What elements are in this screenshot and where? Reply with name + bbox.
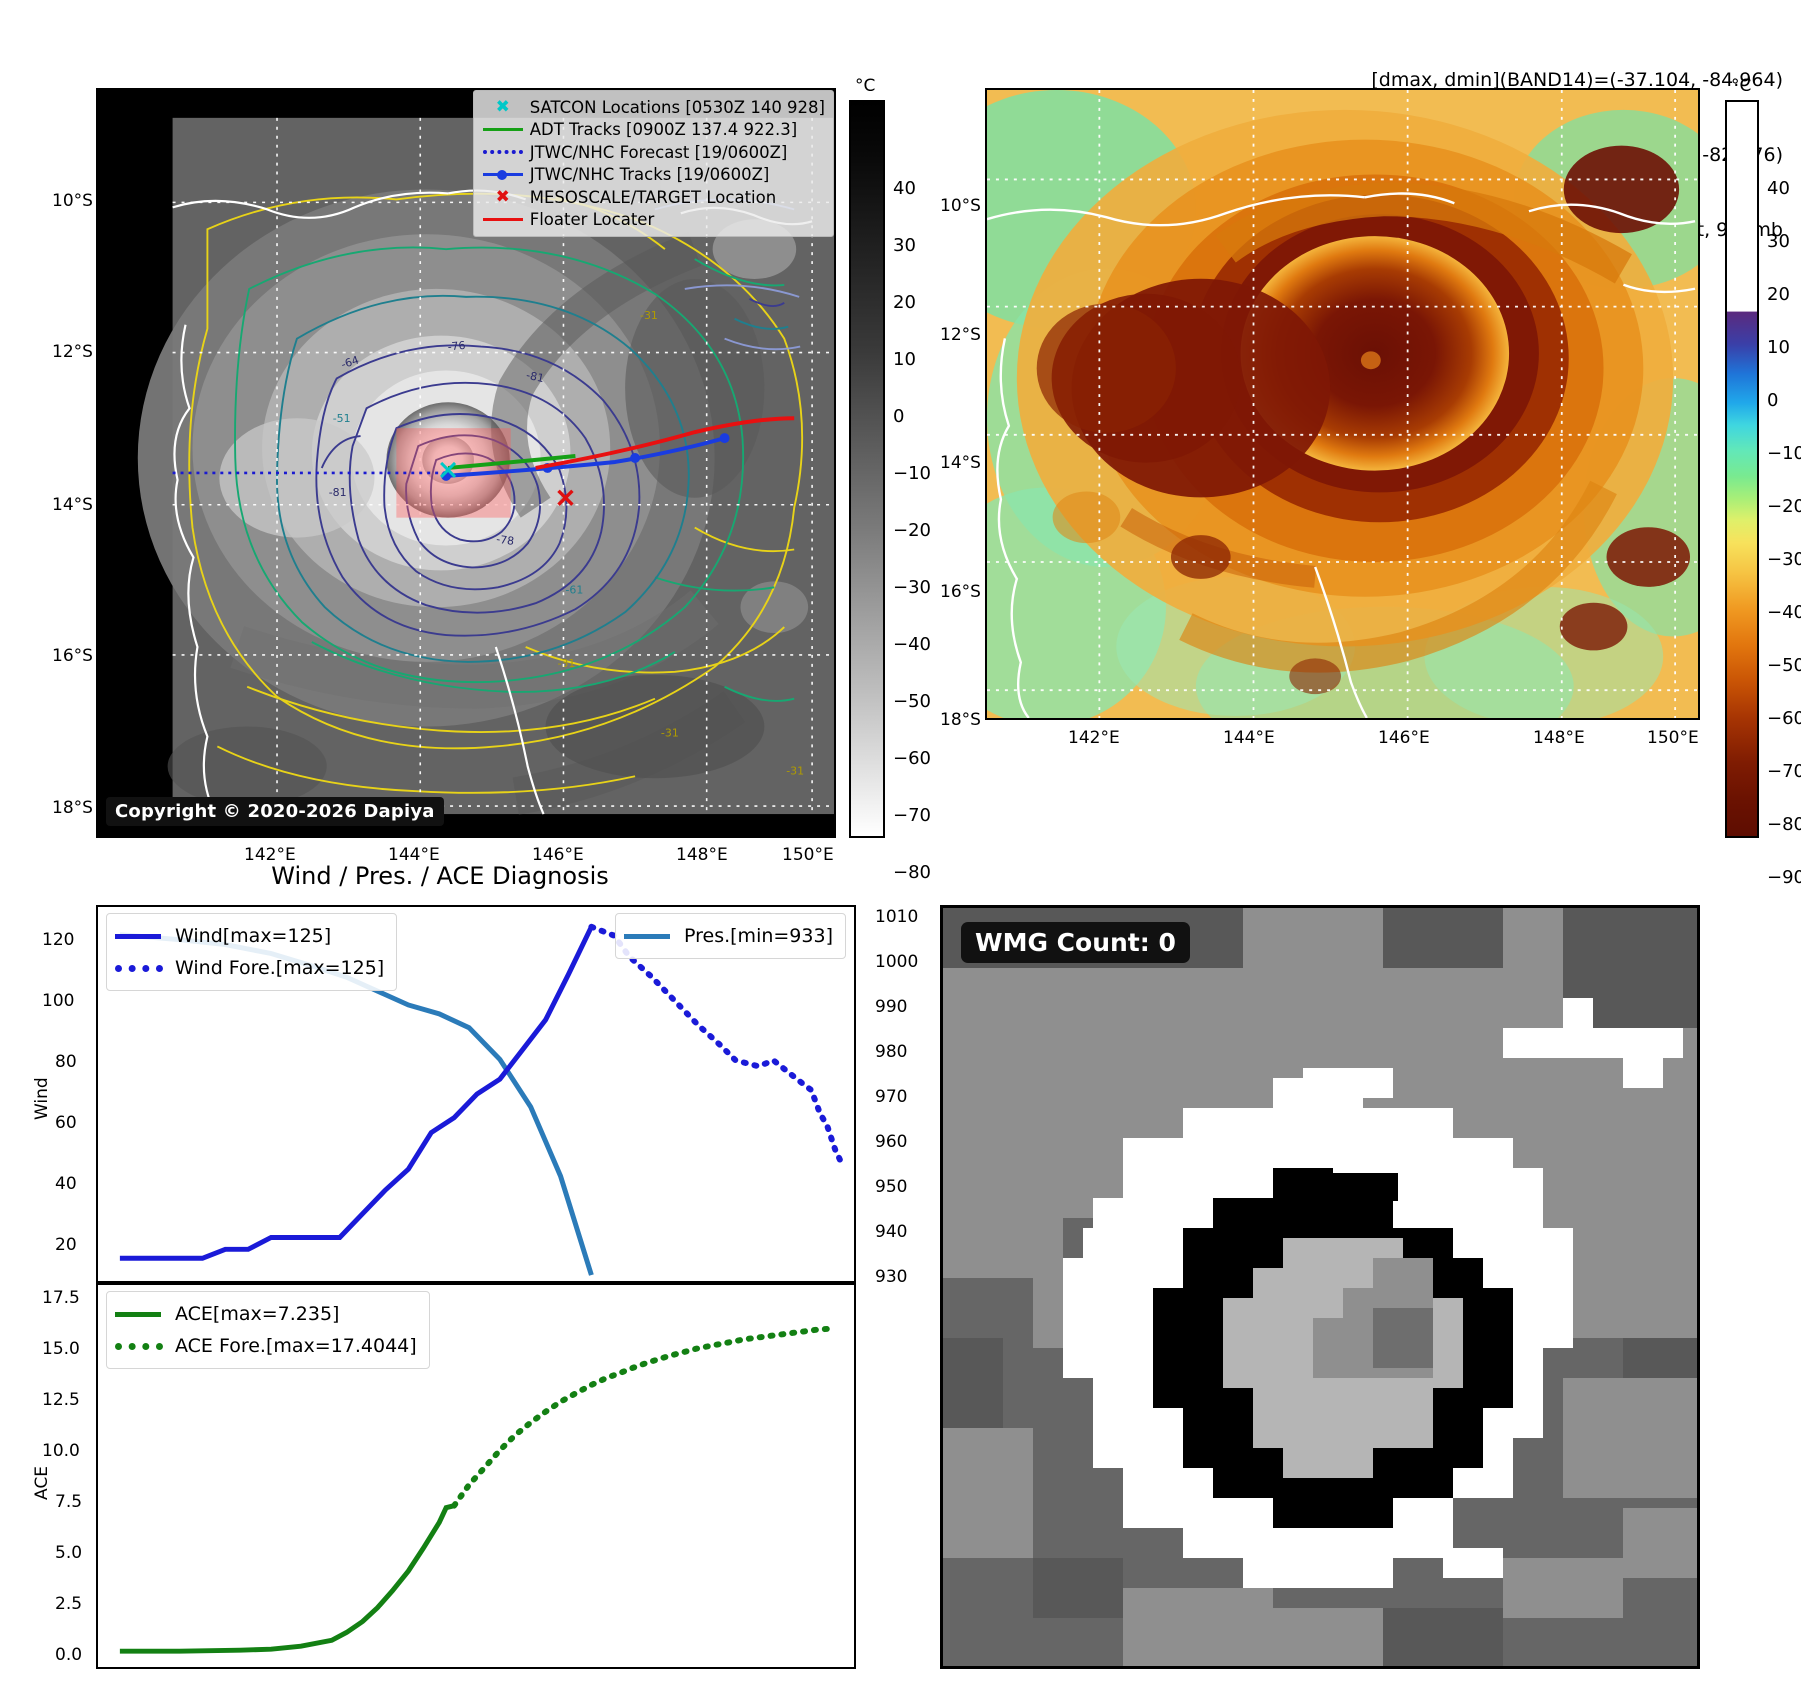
- pressure-tick: 970: [875, 1087, 907, 1107]
- ir-cb-tick: 40: [893, 178, 916, 199]
- wind-line-icon: [115, 934, 173, 939]
- svg-text:-31: -31: [661, 726, 679, 739]
- ir-lat-tick-18s: 18°S: [52, 798, 93, 818]
- awv-cb-tick: −60: [1767, 708, 1801, 729]
- awv-cb-tick: 30: [1767, 231, 1790, 252]
- ace-tick: 0.0: [55, 1645, 82, 1665]
- pressure-tick: 1000: [875, 952, 918, 972]
- awv-lon-tick-148e: 148°E: [1533, 728, 1585, 748]
- awv-map-canvas: [987, 90, 1698, 718]
- ir-cb-tick: 0: [893, 406, 904, 427]
- wind-forecast-dotted-icon: [115, 965, 173, 972]
- pressure-tick: 940: [875, 1222, 907, 1242]
- ace-line-icon: [115, 1312, 173, 1317]
- awv-satellite-map[interactable]: [985, 88, 1700, 720]
- ir-cb-tick: −80: [893, 862, 931, 883]
- awv-lon-tick-146e: 146°E: [1378, 728, 1430, 748]
- ir-lat-tick-14s: 14°S: [52, 495, 93, 515]
- floater-line-icon: [480, 218, 526, 221]
- legend-item-wind-forecast: Wind Fore.[max=125]: [115, 952, 384, 984]
- pressure-tick: 1010: [875, 907, 918, 927]
- svg-text:-81: -81: [329, 486, 347, 499]
- awv-lat-tick-18s: 18°S: [940, 710, 981, 730]
- legend-label: JTWC/NHC Forecast [19/0600Z]: [526, 143, 788, 162]
- awv-cb-tick: −50: [1767, 655, 1801, 676]
- legend-label: Floater Locater: [526, 210, 655, 229]
- wind-chart-legend: Wind[max=125] Wind Fore.[max=125]: [106, 913, 397, 991]
- ace-chart-legend: ACE[max=7.235] ACE Fore.[max=17.4044]: [106, 1291, 430, 1369]
- awv-lon-tick-150e: 150°E: [1647, 728, 1699, 748]
- satcon-x-icon: ✖: [480, 99, 526, 116]
- ace-tick: 5.0: [55, 1543, 82, 1563]
- awv-lat-tick-16s: 16°S: [940, 582, 981, 602]
- legend-label: ACE[max=7.235]: [173, 1303, 339, 1325]
- ir-cb-tick: −50: [893, 691, 931, 712]
- legend-item-adt: ADT Tracks [0900Z 137.4 922.3]: [480, 119, 825, 142]
- legend-label: ACE Fore.[max=17.4044]: [173, 1335, 417, 1357]
- legend-item-wind: Wind[max=125]: [115, 920, 384, 952]
- ir-cb-tick: 30: [893, 235, 916, 256]
- svg-text:-61: -61: [565, 583, 583, 596]
- awv-cb-tick: −20: [1767, 496, 1801, 517]
- pressure-line-icon: [624, 934, 682, 939]
- legend-label: ADT Tracks [0900Z 137.4 922.3]: [526, 120, 797, 139]
- ir-cb-tick: −70: [893, 805, 931, 826]
- forecast-dotted-line-icon: [480, 150, 526, 154]
- pressure-tick: 930: [875, 1267, 907, 1287]
- ir-colorbar-unit: °C: [855, 76, 875, 96]
- track-line-marker-icon: [480, 173, 526, 176]
- adt-line-icon: [480, 128, 526, 131]
- wind-tick: 20: [55, 1235, 77, 1255]
- legend-item-floater: Floater Locater: [480, 209, 825, 232]
- ir-map-legend: ✖ SATCON Locations [0530Z 140 928] ADT T…: [473, 90, 834, 237]
- ir-cb-tick: −60: [893, 748, 931, 769]
- awv-cb-tick: 0: [1767, 390, 1778, 411]
- ir-colorbar: [849, 100, 885, 838]
- copyright-badge: Copyright © 2020-2026 Dapiya: [106, 797, 444, 826]
- wind-axis-label: Wind: [32, 1077, 52, 1120]
- diagnosis-subtitle: Wind / Pres. / ACE Diagnosis: [0, 862, 880, 890]
- wind-tick: 40: [55, 1174, 77, 1194]
- ir-lat-tick-16s: 16°S: [52, 646, 93, 666]
- ace-tick: 15.0: [42, 1339, 80, 1359]
- wmg-canvas: [943, 908, 1697, 1666]
- awv-lat-tick-14s: 14°S: [940, 453, 981, 473]
- awv-cb-tick: −40: [1767, 602, 1801, 623]
- legend-item-ace-forecast: ACE Fore.[max=17.4044]: [115, 1330, 417, 1362]
- legend-label: Wind Fore.[max=125]: [173, 957, 384, 979]
- awv-cb-tick: −90: [1767, 867, 1801, 888]
- pressure-chart-legend: Pres.[min=933]: [615, 913, 846, 959]
- ir-cb-tick: −30: [893, 577, 931, 598]
- svg-text:-51: -51: [333, 412, 351, 425]
- awv-cb-tick: 40: [1767, 178, 1790, 199]
- legend-item-jtwc-forecast: JTWC/NHC Forecast [19/0600Z]: [480, 141, 825, 164]
- ir-lat-tick-10s: 10°S: [52, 191, 93, 211]
- awv-cb-tick: 20: [1767, 284, 1790, 305]
- awv-lat-tick-10s: 10°S: [940, 196, 981, 216]
- pressure-tick: 980: [875, 1042, 907, 1062]
- ace-tick: 7.5: [55, 1492, 82, 1512]
- ace-tick: 10.0: [42, 1441, 80, 1461]
- legend-item-satcon: ✖ SATCON Locations [0530Z 140 928]: [480, 96, 825, 119]
- awv-cb-tick: −30: [1767, 549, 1801, 570]
- svg-text:-31: -31: [640, 309, 658, 322]
- awv-colorbar: [1725, 100, 1759, 838]
- svg-text:-78: -78: [495, 533, 515, 548]
- ir-satellite-map[interactable]: -64 -76 -81 -78 -81 -51 -61 -31 -31 -31 …: [96, 88, 836, 838]
- awv-lat-tick-12s: 12°S: [940, 325, 981, 345]
- ir-cb-tick: −20: [893, 520, 931, 541]
- wind-tick: 100: [42, 991, 74, 1011]
- pressure-tick: 950: [875, 1177, 907, 1197]
- ace-chart[interactable]: ACE[max=7.235] ACE Fore.[max=17.4044]: [96, 1283, 856, 1669]
- awv-lon-tick-144e: 144°E: [1223, 728, 1275, 748]
- ace-tick: 17.5: [42, 1288, 80, 1308]
- legend-label: Pres.[min=933]: [682, 925, 833, 947]
- ace-tick: 12.5: [42, 1390, 80, 1410]
- ir-cb-tick: 10: [893, 349, 916, 370]
- awv-colorbar-unit: °C: [1731, 76, 1751, 96]
- awv-lon-tick-142e: 142°E: [1068, 728, 1120, 748]
- svg-text:-31: -31: [557, 657, 575, 670]
- wind-pressure-chart[interactable]: Wind[max=125] Wind Fore.[max=125] Pres.[…: [96, 905, 856, 1283]
- pressure-tick: 960: [875, 1132, 907, 1152]
- ace-axis-label: ACE: [32, 1466, 52, 1500]
- ir-cb-tick: 20: [893, 292, 916, 313]
- legend-label: SATCON Locations [0530Z 140 928]: [526, 98, 825, 117]
- legend-label: MESOSCALE/TARGET Location: [526, 188, 776, 207]
- legend-item-pressure: Pres.[min=933]: [624, 920, 833, 952]
- ir-cb-tick: −10: [893, 463, 931, 484]
- legend-item-jtwc-tracks: JTWC/NHC Tracks [19/0600Z]: [480, 164, 825, 187]
- legend-item-ace: ACE[max=7.235]: [115, 1298, 417, 1330]
- svg-text:-76: -76: [447, 339, 466, 354]
- ace-tick: 2.5: [55, 1594, 82, 1614]
- ir-cb-tick: −40: [893, 634, 931, 655]
- mesoscale-x-icon: ✖: [480, 189, 526, 206]
- awv-cb-tick: 10: [1767, 337, 1790, 358]
- legend-label: Wind[max=125]: [173, 925, 331, 947]
- ir-lat-tick-12s: 12°S: [52, 342, 93, 362]
- svg-text:-31: -31: [786, 764, 804, 777]
- wind-tick: 120: [42, 930, 74, 950]
- legend-label: JTWC/NHC Tracks [19/0600Z]: [526, 165, 770, 184]
- awv-cb-tick: −10: [1767, 443, 1801, 464]
- wmg-count-badge: WMG Count: 0: [961, 922, 1190, 963]
- pressure-tick: 990: [875, 997, 907, 1017]
- awv-cb-tick: −80: [1767, 814, 1801, 835]
- wmg-classification-map[interactable]: WMG Count: 0: [940, 905, 1700, 1669]
- legend-item-mesoscale: ✖ MESOSCALE/TARGET Location: [480, 186, 825, 209]
- wind-tick: 80: [55, 1052, 77, 1072]
- awv-cb-tick: −70: [1767, 761, 1801, 782]
- ace-forecast-dotted-icon: [115, 1343, 173, 1350]
- wind-tick: 60: [55, 1113, 77, 1133]
